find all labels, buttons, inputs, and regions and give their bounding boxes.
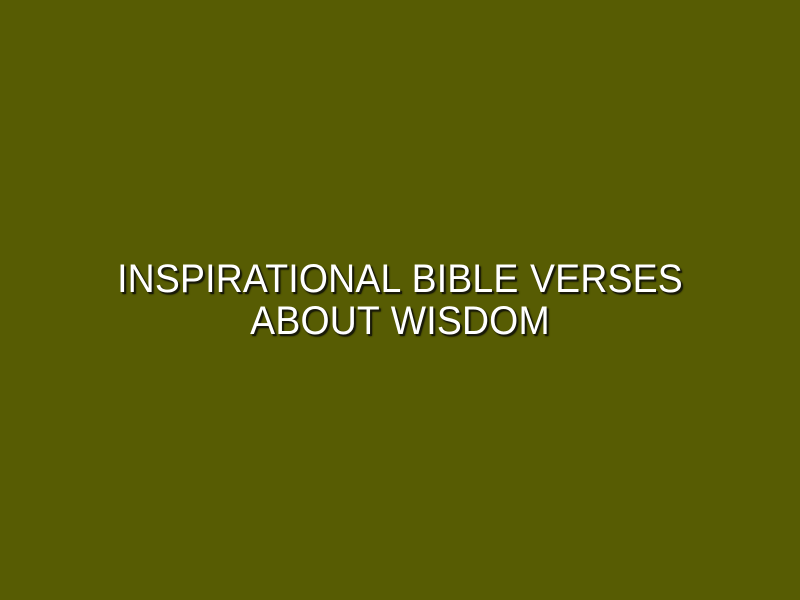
hero-title-block: Inspirational Bible Verses About Wisdom	[80, 258, 720, 342]
page-title: Inspirational Bible Verses About Wisdom	[101, 258, 699, 342]
hero-banner: Inspirational Bible Verses About Wisdom	[0, 0, 800, 600]
